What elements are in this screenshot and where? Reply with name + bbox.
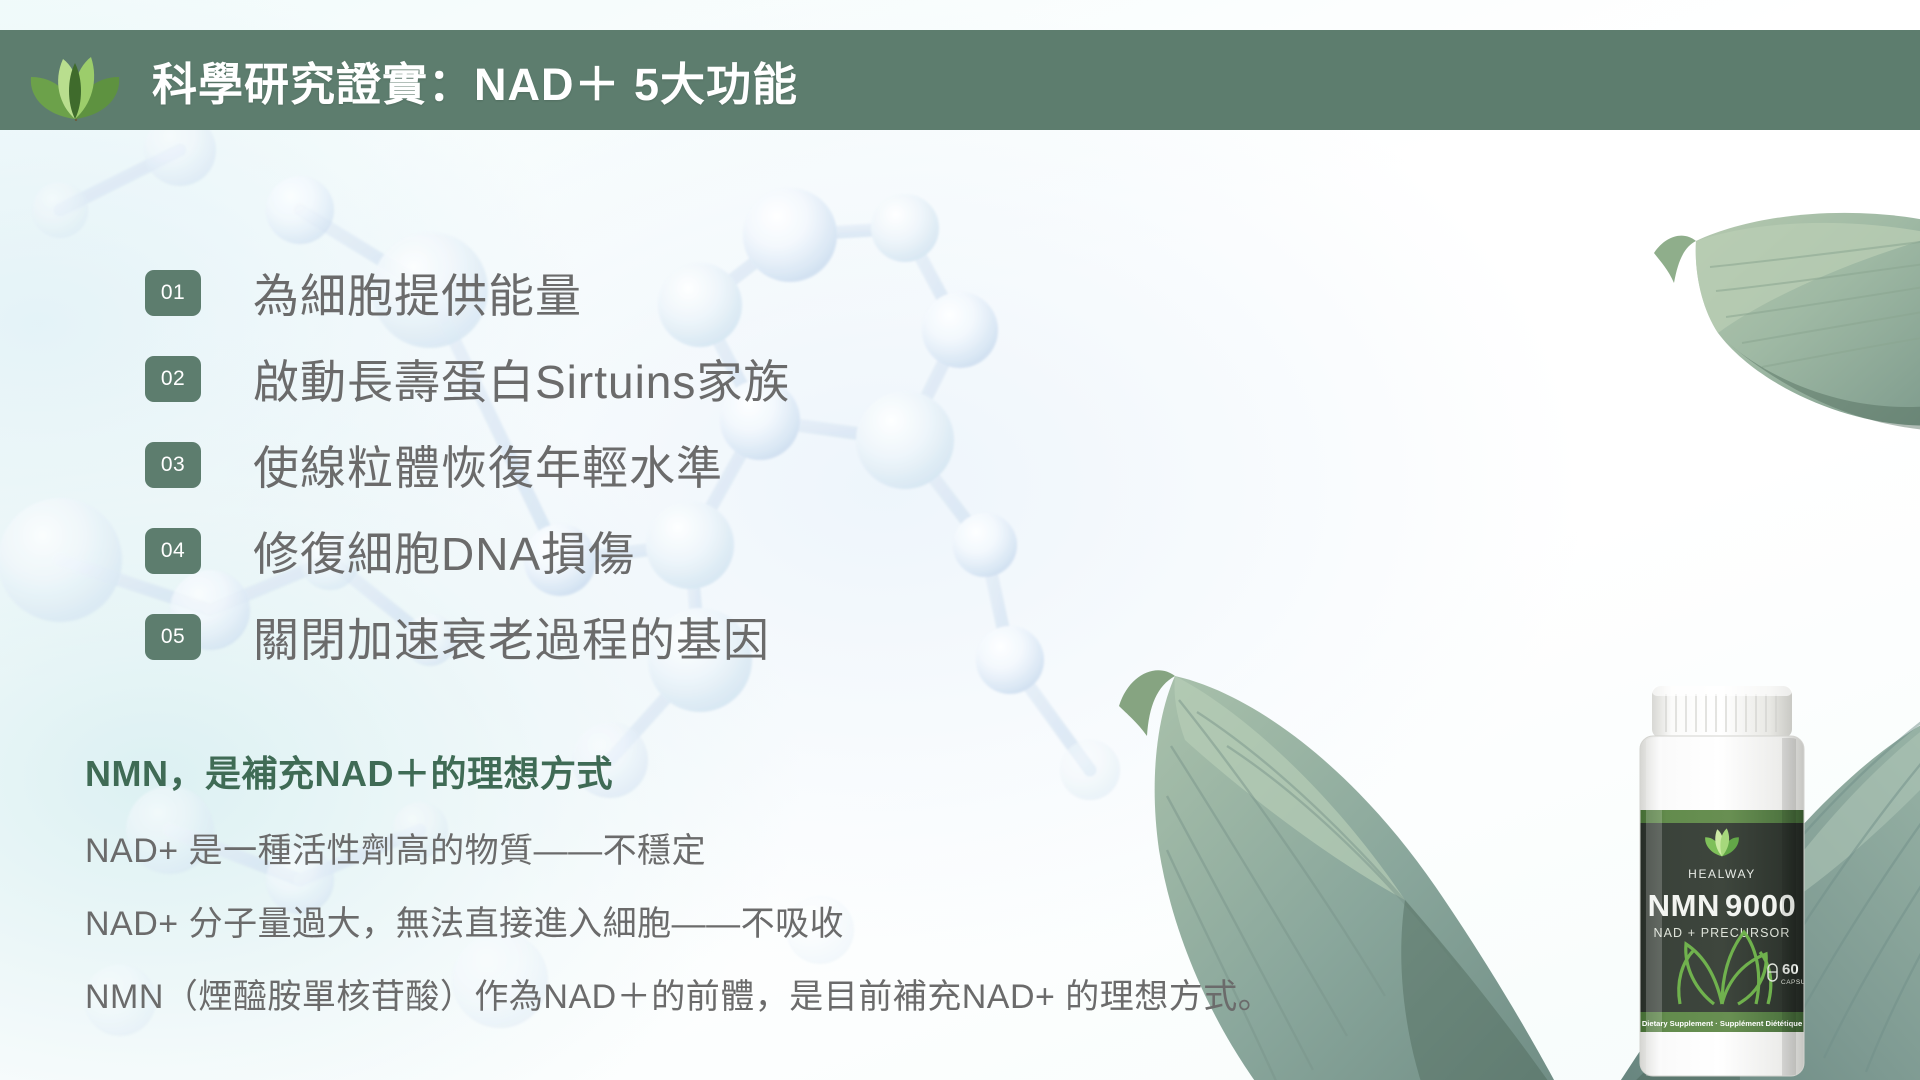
benefit-row: 04 修復細胞DNA損傷 [145,508,1245,594]
benefit-number-badge: 01 [145,270,201,316]
product-footer: Dietary Supplement · Supplément Diététiq… [1642,1019,1802,1028]
benefit-label: 啟動長壽蛋白Sirtuins家族 [253,346,790,412]
header-bar: 科學研究證實：NAD＋ 5大功能 [0,30,1920,130]
benefit-row: 02 啟動長壽蛋白Sirtuins家族 [145,336,1245,422]
copy-block: NMN，是補充NAD＋的理想方式 NAD+ 是一種活性劑高的物質——不穩定 NA… [85,745,1385,1042]
benefit-row: 05 關閉加速衰老過程的基因 [145,594,1245,680]
product-subtitle: NAD + PRECURSOR [1653,926,1790,940]
benefit-label: 使線粒體恢復年輕水準 [253,432,723,498]
benefit-number-badge: 03 [145,442,201,488]
product-bottle-image: HEALWAY NMN9000 NAD + PRECURSOR 60 CAPSU… [1622,682,1822,1080]
brand-logo [20,30,130,130]
benefit-row: 01 為細胞提供能量 [145,250,1245,336]
benefit-number-badge: 02 [145,356,201,402]
benefit-label: 關閉加速衰老過程的基因 [253,604,770,670]
slide-canvas: 科學研究證實：NAD＋ 5大功能 [0,0,1920,1080]
copy-heading: NMN，是補充NAD＋的理想方式 [85,745,1385,797]
leaf-icon-top-right [1610,175,1920,475]
benefit-number-badge: 04 [145,528,201,574]
copy-line: NAD+ 是一種活性劑高的物質——不穩定 [85,823,1385,872]
benefit-label: 為細胞提供能量 [253,260,582,326]
benefit-number-badge: 05 [145,614,201,660]
copy-line: NMN（煙醯胺單核苷酸）作為NAD＋的前體，是目前補充NAD+ 的理想方式。 [85,969,1385,1018]
copy-line: NAD+ 分子量過大，無法直接進入細胞——不吸收 [85,896,1385,945]
page-title: 科學研究證實：NAD＋ 5大功能 [152,48,798,113]
leaf-lotus-logo-icon [25,35,125,125]
benefit-label: 修復細胞DNA損傷 [253,518,635,584]
product-brand: HEALWAY [1688,867,1756,881]
benefit-row: 03 使線粒體恢復年輕水準 [145,422,1245,508]
benefit-list: 01 為細胞提供能量 02 啟動長壽蛋白Sirtuins家族 03 使線粒體恢復… [145,250,1245,680]
